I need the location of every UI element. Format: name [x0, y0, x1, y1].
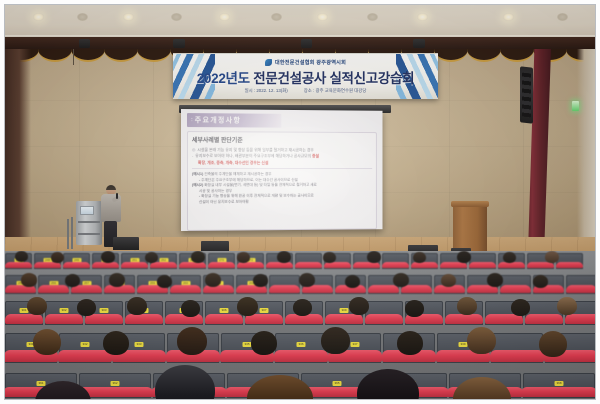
- lectern-top: [451, 201, 489, 207]
- seat-number: 303: [99, 308, 108, 313]
- right-side-wall: [577, 49, 595, 245]
- banner-title-tail: 실적신고강습회: [329, 71, 414, 86]
- ceiling-speaker: [173, 39, 185, 48]
- seat-number: 337: [350, 342, 359, 347]
- downlight: [557, 13, 568, 21]
- seat-number: 365: [332, 381, 341, 386]
- downlight: [317, 13, 328, 21]
- seat-number: 362: [110, 381, 119, 386]
- example-text: 화장실 기능 향상을 위해 완공 이후 전체적으로 개량 및 보수하는 공사이므…: [201, 194, 314, 198]
- downlight: [367, 13, 378, 21]
- auditorium-photo: 대한전문건설협회 광주광역시회 2022년도 전문건설공사 실적신고강습회 일시…: [4, 4, 596, 400]
- mic-stand: [71, 217, 73, 249]
- banner-organization: 대한전문건설협회 광주광역시회: [275, 59, 346, 66]
- example-text: 시공 및 공사하는 경우: [199, 189, 232, 193]
- banner-meta-place: 장소 : 광주 교육문화연수원 대강당: [304, 88, 367, 94]
- example-text: 주계단은 주요구조부에 해당하므로, 이는 대수선 공사이므로 신설: [201, 178, 298, 182]
- downlight: [271, 13, 282, 21]
- ceiling-speaker: [79, 39, 90, 48]
- downlight: [77, 13, 88, 21]
- bullet-text: 유지보수로 보아야 하나, 배관부분이 주요구조부에 해당하거나 공사규모의 증…: [195, 153, 372, 159]
- stage-monitor: [113, 237, 139, 250]
- downlight: [503, 13, 514, 21]
- example-tag: (예시1): [192, 172, 203, 176]
- exit-sign-icon: [572, 101, 579, 111]
- bullet-text-highlight: 증설: [312, 153, 319, 158]
- downlight: [219, 13, 230, 21]
- example-text: 건축물의 주계단을 해체하고 재시공하는 경우: [204, 172, 271, 176]
- example-text: 신설이 아닌 유지보수로 보아야함: [199, 200, 249, 204]
- example-line: 신설이 아닌 유지보수로 보아야함: [199, 199, 372, 205]
- slide-red-line: 확장, 개조, 증축, 개축, 대수선인 경우는 신설: [198, 160, 372, 166]
- example-tag: (예시2): [192, 183, 203, 187]
- slide-header: :: 주요개정사항: [187, 113, 281, 128]
- downlight: [123, 13, 134, 21]
- projection-screen: :: 주요개정사항 세부사례별 판단기준 ◎ 시설물 본래 기능 유지 및 향상…: [181, 109, 383, 231]
- banner-title-year: 2022년도: [197, 71, 250, 86]
- seat-number: 306: [219, 308, 228, 313]
- banner-meta-date: 일시 : 2022. 12. 13(화): [245, 88, 288, 94]
- bullet-text: 시설물 본래 기능 유지 및 향상 등을 위해 일부를 철거하고 재시공하는 경…: [197, 147, 372, 153]
- slide-body: 세부사례별 판단기준 ◎ 시설물 본래 기능 유지 및 향상 등을 위해 일부를…: [187, 131, 377, 231]
- event-banner: 대한전문건설협회 광주광역시회 2022년도 전문건설공사 실적신고강습회 일시…: [173, 53, 438, 99]
- bullet-text-plain: 유지보수로 보아야 하나, 배관부분이 주요구조부에 해당하거나 공사규모의: [195, 153, 312, 158]
- seat-number: 302: [59, 308, 68, 313]
- slide-header-title: 주요개정사항: [195, 115, 241, 125]
- downlight: [33, 13, 44, 21]
- presentation-slide: :: 주요개정사항 세부사례별 판단기준 ◎ 시설물 본래 기능 유지 및 향상…: [181, 109, 383, 231]
- left-side-wall: [5, 49, 31, 245]
- banner-meta: 일시 : 2022. 12. 13(화) 장소 : 광주 교육문화연수원 대강당: [245, 88, 367, 94]
- slide-header-mark-icon: ::: [191, 117, 192, 123]
- bullet-marker: ◎: [192, 147, 195, 153]
- speaker-wire: [73, 49, 74, 65]
- seat-number: 368: [554, 381, 563, 386]
- seat-number: 307: [259, 308, 268, 313]
- ceiling-speaker: [301, 39, 312, 48]
- laptop-screen: [80, 206, 94, 215]
- slide-examples: (예시1) 건축물의 주계단을 해체하고 재시공하는 경우 - 주계단은 주요구…: [192, 168, 372, 205]
- photo-frame: 대한전문건설협회 광주광역시회 2022년도 전문건설공사 실적신고강습회 일시…: [0, 0, 600, 404]
- downlight: [171, 13, 182, 21]
- seat-number: 309: [339, 308, 348, 313]
- ceiling-speaker: [413, 39, 425, 48]
- downlight: [417, 13, 428, 21]
- av-cart: [76, 201, 102, 245]
- banner-organization-row: 대한전문건설협회 광주광역시회: [265, 59, 346, 66]
- wooden-lectern: [453, 204, 487, 254]
- seat-number: 336: [296, 342, 305, 347]
- association-logo-icon: [265, 59, 272, 66]
- slide-bullet: - 유지보수로 보아야 하나, 배관부분이 주요구조부에 해당하거나 공사규모의…: [192, 153, 372, 159]
- microphone-icon: [116, 193, 118, 199]
- example-text: 화장실 내부 시설물(변기, 세면대 등) 및 타일 등을 전체적으로 철거하고…: [204, 183, 317, 187]
- slide-bullet: ◎ 시설물 본래 기능 유지 및 향상 등을 위해 일부를 철거하고 재시공하는…: [192, 147, 372, 153]
- slide-subtitle: 세부사례별 판단기준: [192, 135, 372, 145]
- line-array-speaker: [520, 66, 533, 123]
- banner-title: 2022년도 전문건설공사 실적신고강습회: [197, 67, 415, 87]
- bullet-marker: -: [192, 153, 193, 159]
- seat-number: 333: [134, 342, 143, 347]
- banner-title-main: 전문건설공사: [253, 71, 326, 86]
- mic-stand: [67, 219, 69, 249]
- seat-number: 332: [80, 342, 89, 347]
- audience-seating: 247 248 249 250 251 252 253 270 272: [5, 251, 595, 400]
